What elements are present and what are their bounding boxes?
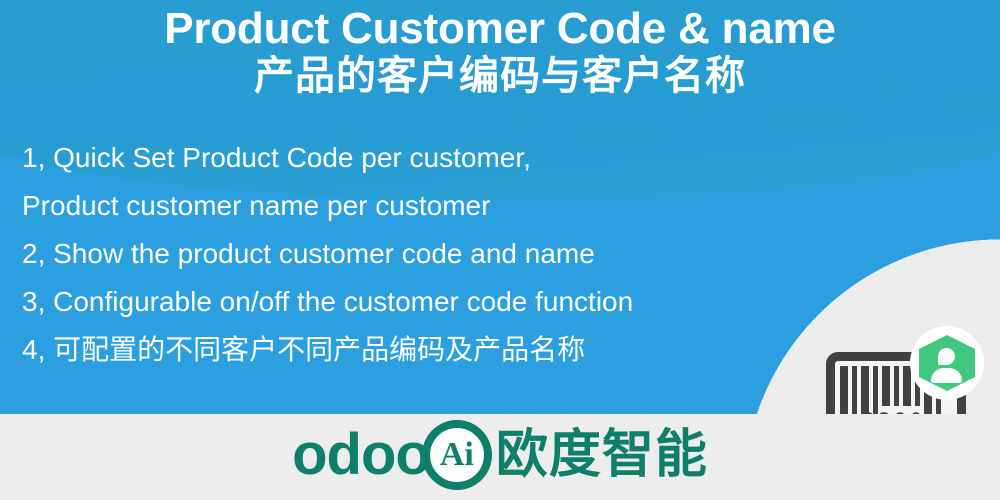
footer-bar: odoo Ai 欧度智能 [0,414,1000,500]
feature-line-4: 3, Configurable on/off the customer code… [22,278,862,326]
page-title-en: Product Customer Code & name [0,6,1000,52]
feature-line-5: 4, 可配置的不同客户不同产品编码及产品名称 [22,326,862,374]
header-title-group: Product Customer Code & name 产品的客户编码与客户名… [0,6,1000,97]
person-hex-shape [919,335,975,391]
person-head-shape [938,348,955,365]
feature-line-1: 1, Quick Set Product Code per customer, [22,134,862,182]
person-body-shape [931,368,962,383]
page-title-zh: 产品的客户编码与客户名称 [0,56,1000,98]
brand-odoo-wordmark: odoo [292,426,430,484]
brand-logo: odoo Ai 欧度智能 [292,422,708,488]
brand-ai-badge: Ai [422,420,492,490]
feature-line-3: 2, Show the product customer code and na… [22,230,862,278]
brand-ai-label: Ai [430,428,484,482]
barcode-bar [894,366,899,406]
brand-chinese-name: 欧度智能 [496,429,708,481]
feature-list: 1, Quick Set Product Code per customer, … [22,134,862,374]
barcode-bar [882,366,890,406]
feature-line-2: Product customer name per customer [22,182,862,230]
person-icon [910,326,984,400]
barcode-bar [903,366,911,406]
promo-banner: Product Customer Code & name 产品的客户编码与客户名… [0,0,1000,500]
